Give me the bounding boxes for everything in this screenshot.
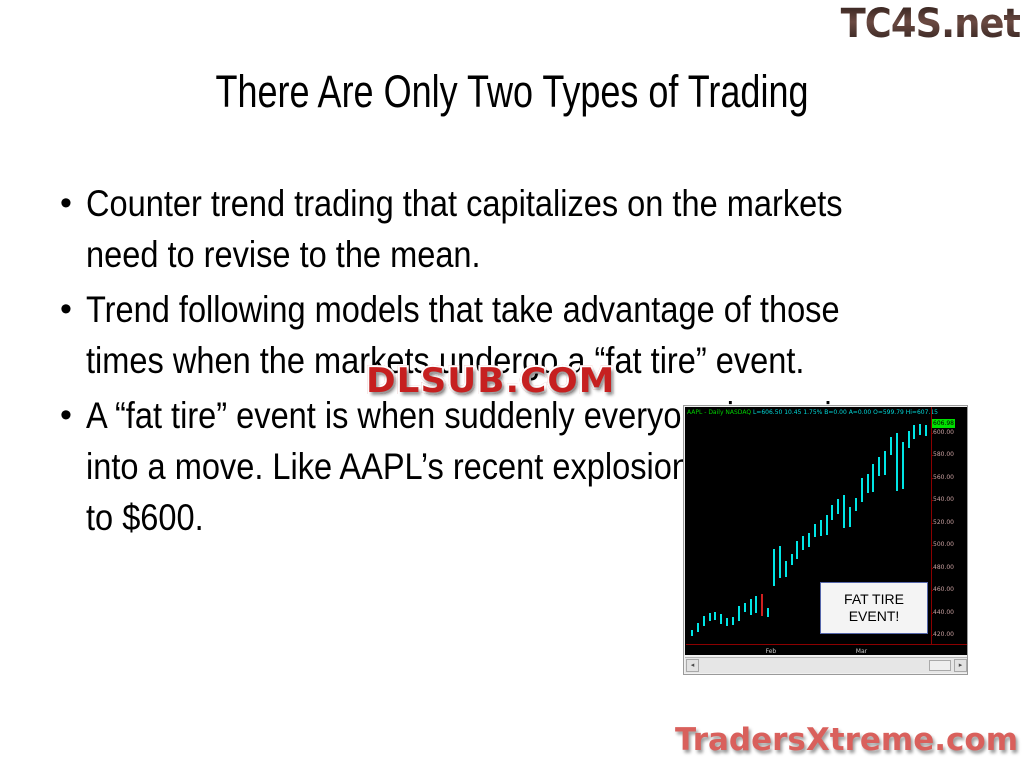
candlestick — [802, 536, 804, 550]
candlestick — [709, 613, 711, 621]
bullet-text: Counter trend trading that capitalizes o… — [86, 178, 874, 280]
candlestick — [738, 606, 740, 621]
candlestick-wick — [896, 433, 898, 492]
chart-symbol-label: AAPL - Daily NASDAQ — [687, 409, 751, 416]
candlestick-wick — [691, 630, 693, 637]
candlestick — [820, 520, 822, 536]
candlestick-wick — [720, 614, 722, 624]
chart-quote-values: L=606.50 10.45 1.75% B=0.00 A=0.00 O=599… — [753, 409, 938, 416]
candlestick — [890, 437, 892, 455]
candlestick-wick — [802, 536, 804, 550]
candlestick — [855, 498, 857, 512]
candlestick — [791, 554, 793, 565]
candlestick — [867, 474, 869, 493]
candlestick-wick — [726, 618, 728, 626]
price-axis-line — [931, 407, 932, 655]
brand-logo-tc4s: TC4S.net — [840, 2, 1020, 46]
scroll-left-arrow-icon[interactable]: ◂ — [686, 659, 699, 672]
candlestick — [796, 541, 798, 559]
candlestick-wick — [820, 520, 822, 536]
candlestick-wick — [878, 457, 880, 476]
candlestick-wick — [709, 613, 711, 621]
slide-canvas: TC4S.net There Are Only Two Types of Tra… — [0, 0, 1024, 768]
candlestick-wick — [785, 561, 787, 577]
candlestick — [773, 549, 775, 586]
candlestick-wick — [738, 606, 740, 621]
aapl-candlestick-chart[interactable]: AAPL - Daily NASDAQ L=606.50 10.45 1.75%… — [683, 405, 968, 675]
price-axis: 606.98 420.00440.00460.00480.00500.00520… — [931, 419, 967, 655]
bullet-marker-icon: • — [52, 178, 86, 228]
price-axis-tick: 580.00 — [933, 451, 954, 459]
price-axis-tick: 480.00 — [933, 564, 954, 572]
candlestick — [761, 594, 763, 617]
candlestick-wick — [867, 474, 869, 493]
chart-plot-canvas: AAPL - Daily NASDAQ L=606.50 10.45 1.75%… — [685, 407, 968, 655]
candlestick-wick — [849, 507, 851, 527]
fat-tire-event-callout: FAT TIRE EVENT! — [820, 582, 928, 634]
candlestick — [896, 433, 898, 492]
candlestick-wick — [913, 425, 915, 440]
candlestick-wick — [697, 623, 699, 632]
callout-line-1: FAT TIRE — [844, 591, 904, 608]
candlestick — [767, 608, 769, 617]
candlestick-wick — [902, 442, 904, 489]
list-item: • Counter trend trading that capitalizes… — [52, 178, 982, 280]
candlestick — [779, 546, 781, 578]
candlestick — [925, 425, 927, 436]
candlestick-wick — [884, 451, 886, 476]
bullet-marker-icon: • — [52, 390, 86, 440]
candlestick — [726, 618, 728, 626]
candlestick-wick — [826, 515, 828, 535]
candlestick-wick — [872, 464, 874, 492]
candlestick-wick — [773, 549, 775, 586]
candlestick — [826, 515, 828, 535]
candlestick — [884, 451, 886, 476]
candlestick — [808, 533, 810, 548]
price-axis-tick: 440.00 — [933, 609, 954, 617]
candlestick-wick — [808, 533, 810, 548]
candlestick-wick — [855, 498, 857, 512]
chart-quote-header: AAPL - Daily NASDAQ L=606.50 10.45 1.75%… — [687, 408, 938, 417]
candlestick — [750, 599, 752, 615]
candlestick-wick — [861, 478, 863, 503]
price-axis-tick: 520.00 — [933, 519, 954, 527]
candlestick — [831, 505, 833, 521]
candlestick — [902, 442, 904, 489]
candlestick-wick — [925, 425, 927, 436]
chart-horizontal-scrollbar[interactable]: ◂ ▸ — [685, 657, 968, 673]
price-axis-tick: 540.00 — [933, 496, 954, 504]
candlestick — [814, 524, 816, 538]
scroll-right-arrow-icon[interactable]: ▸ — [954, 659, 967, 672]
candlestick — [919, 424, 921, 435]
scrollbar-thumb[interactable] — [929, 660, 951, 671]
watermark-text: DLSUB.COM — [366, 361, 615, 401]
candlestick-wick — [796, 541, 798, 559]
candlestick-wick — [908, 431, 910, 448]
candlestick-wick — [791, 554, 793, 565]
candlestick — [837, 499, 839, 514]
candlestick — [697, 623, 699, 632]
candlestick-wick — [755, 596, 757, 613]
last-price-tag: 606.98 — [932, 419, 955, 428]
candlestick — [872, 464, 874, 492]
candlestick — [913, 425, 915, 440]
candlestick-wick — [814, 524, 816, 538]
candlestick-wick — [732, 617, 734, 625]
candlestick — [732, 617, 734, 625]
bullet-marker-icon: • — [52, 284, 86, 334]
price-axis-tick: 600.00 — [933, 429, 954, 437]
candlestick-wick — [761, 594, 763, 617]
candlestick-wick — [779, 546, 781, 578]
candlestick-wick — [750, 599, 752, 615]
candlestick — [755, 596, 757, 613]
brand-logo-tradersxtreme: TradersXtreme.com — [675, 722, 1018, 758]
candlestick-wick — [767, 608, 769, 617]
candlestick — [720, 614, 722, 624]
candlestick — [691, 630, 693, 637]
candlestick — [849, 507, 851, 527]
price-axis-tick: 500.00 — [933, 541, 954, 549]
price-axis-tick: 420.00 — [933, 631, 954, 639]
time-axis-tick: Mar — [856, 647, 867, 655]
price-axis-tick: 560.00 — [933, 474, 954, 482]
candlestick — [861, 478, 863, 503]
candlestick-wick — [703, 616, 705, 626]
candlestick — [843, 495, 845, 529]
slide-title: There Are Only Two Types of Trading — [134, 64, 889, 120]
candlestick-wick — [919, 424, 921, 435]
candlestick — [714, 612, 716, 620]
candlestick — [744, 603, 746, 612]
candlestick-wick — [837, 499, 839, 514]
candlestick — [908, 431, 910, 448]
candlestick — [785, 561, 787, 577]
time-axis: FebMar — [686, 644, 968, 655]
candlestick — [703, 616, 705, 626]
candlestick — [878, 457, 880, 476]
candlestick-wick — [831, 505, 833, 521]
candlestick-wick — [744, 603, 746, 612]
candlestick-wick — [714, 612, 716, 620]
watermark-dlsub: DLSUB.COM — [366, 362, 615, 400]
price-axis-tick: 460.00 — [933, 586, 954, 594]
time-axis-tick: Feb — [766, 647, 777, 655]
candlestick-wick — [843, 495, 845, 529]
callout-line-2: EVENT! — [849, 608, 900, 625]
candlestick-wick — [890, 437, 892, 455]
